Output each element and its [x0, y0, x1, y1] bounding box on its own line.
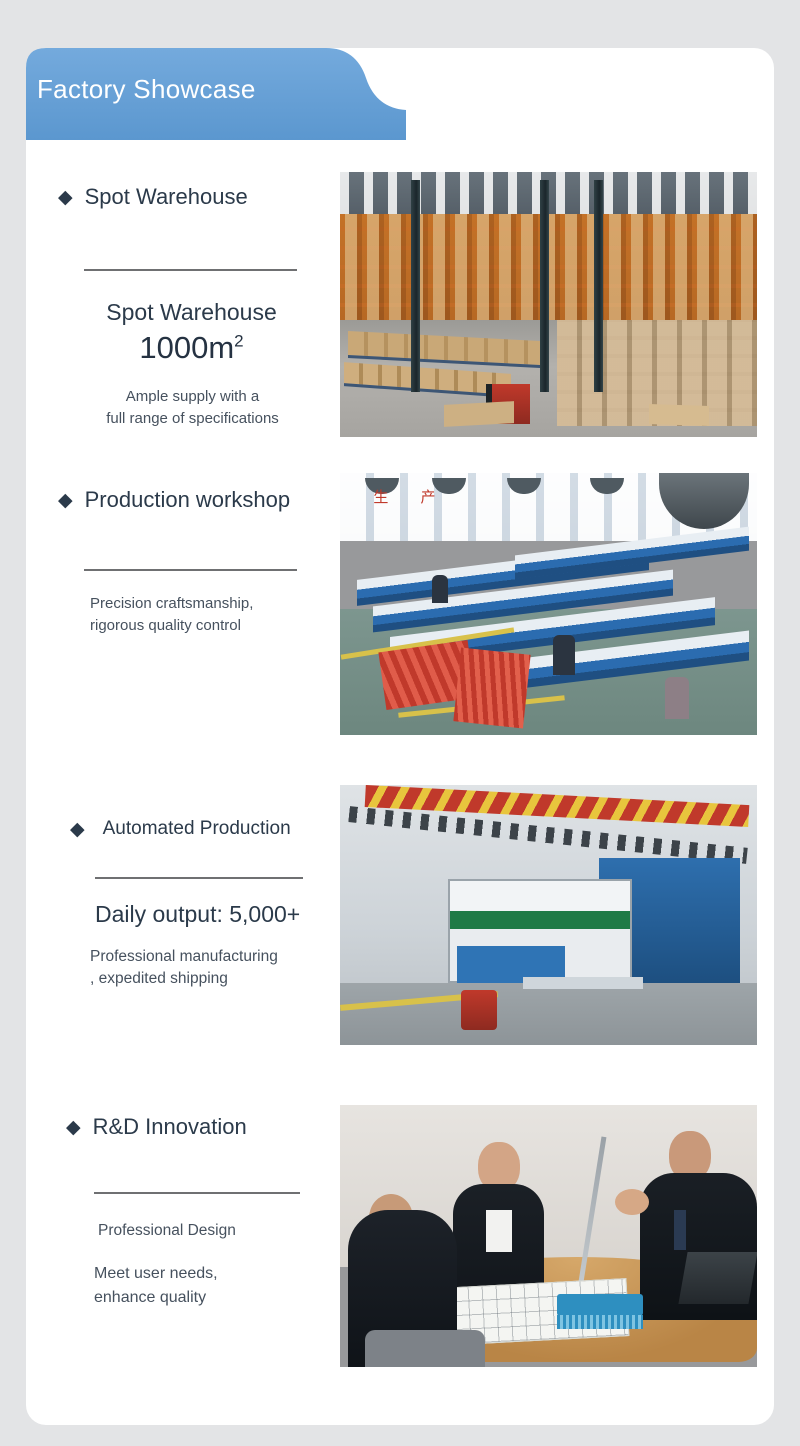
section-heading: ◆ R&D Innovation: [66, 1114, 346, 1140]
photo-mop-handles: [453, 648, 530, 729]
section-divider: [94, 1192, 300, 1194]
diamond-bullet-icon: ◆: [70, 820, 85, 839]
description-line: Professional manufacturing: [90, 946, 350, 968]
page-title: Factory Showcase: [37, 74, 256, 105]
section-description: Ample supply with a full range of specif…: [70, 386, 315, 430]
photo-boxes: [649, 404, 709, 426]
description-line: enhance quality: [94, 1286, 346, 1309]
photo-wall-sign: 生 产: [373, 486, 483, 508]
section-divider: [84, 269, 297, 271]
photo-floor: [340, 983, 757, 1045]
description-line: Meet user needs,: [94, 1262, 346, 1285]
section-divider: [84, 569, 297, 571]
section-headline: Daily output: 5,000+: [95, 901, 350, 928]
description-line: full range of specifications: [70, 408, 315, 430]
diamond-bullet-icon: ◆: [58, 188, 73, 207]
photo-necktie: [674, 1210, 686, 1250]
diamond-bullet-icon: ◆: [58, 491, 73, 510]
section-automated-production: ◆ Automated Production Daily output: 5,0…: [70, 818, 350, 991]
photo-chair: [365, 1330, 485, 1367]
photo-worker: [553, 635, 575, 675]
diamond-bullet-icon: ◆: [66, 1118, 81, 1137]
photo-broom-head: [557, 1294, 643, 1316]
section-title: Automated Production: [103, 818, 291, 840]
photo-boxes: [444, 401, 514, 427]
description-line: Precision craftsmanship,: [90, 593, 338, 615]
section-divider: [95, 877, 303, 879]
section-spot-warehouse: ◆ Spot Warehouse Spot Warehouse 1000m2 A…: [58, 184, 318, 430]
metric-value: 1000m: [139, 330, 234, 365]
section-headline: Spot Warehouse: [74, 299, 309, 326]
section-heading: ◆ Spot Warehouse: [58, 184, 318, 210]
rd-innovation-photo: [340, 1105, 757, 1367]
section-metric: 1000m2: [74, 330, 309, 366]
section-heading: ◆ Automated Production: [70, 818, 350, 840]
section-title: Spot Warehouse: [85, 184, 248, 210]
photo-column: [540, 180, 549, 392]
photo-column: [411, 180, 420, 392]
section-title: R&D Innovation: [93, 1114, 247, 1140]
section-production-workshop: ◆ Production workshop Precision craftsma…: [58, 487, 338, 637]
description-line: , expedited shipping: [90, 968, 350, 990]
section-title: Production workshop: [85, 487, 290, 513]
section-description: Professional manufacturing , expedited s…: [90, 946, 350, 991]
photo-worker: [432, 575, 448, 603]
warehouse-photo: [340, 172, 757, 437]
section-rd-innovation: ◆ R&D Innovation Professional Design Mee…: [66, 1114, 346, 1309]
section-description: Meet user needs, enhance quality: [94, 1262, 346, 1308]
photo-broom-bristles: [557, 1315, 643, 1329]
photo-column: [594, 180, 603, 392]
metric-superscript: 2: [234, 332, 243, 351]
workshop-photo: 生 产: [340, 473, 757, 735]
section-subheadline: Professional Design: [98, 1220, 346, 1242]
section-description: Precision craftsmanship, rigorous qualit…: [90, 593, 338, 637]
description-line: rigorous quality control: [90, 615, 338, 637]
automated-production-photo: [340, 785, 757, 1045]
photo-table: [523, 977, 643, 989]
photo-hand: [615, 1189, 649, 1215]
photo-worker: [665, 677, 689, 719]
section-heading: ◆ Production workshop: [58, 487, 338, 513]
photo-laptop: [678, 1252, 757, 1304]
description-line: Ample supply with a: [70, 386, 315, 408]
photo-bin: [461, 990, 497, 1030]
photo-person-shirt: [486, 1210, 512, 1252]
